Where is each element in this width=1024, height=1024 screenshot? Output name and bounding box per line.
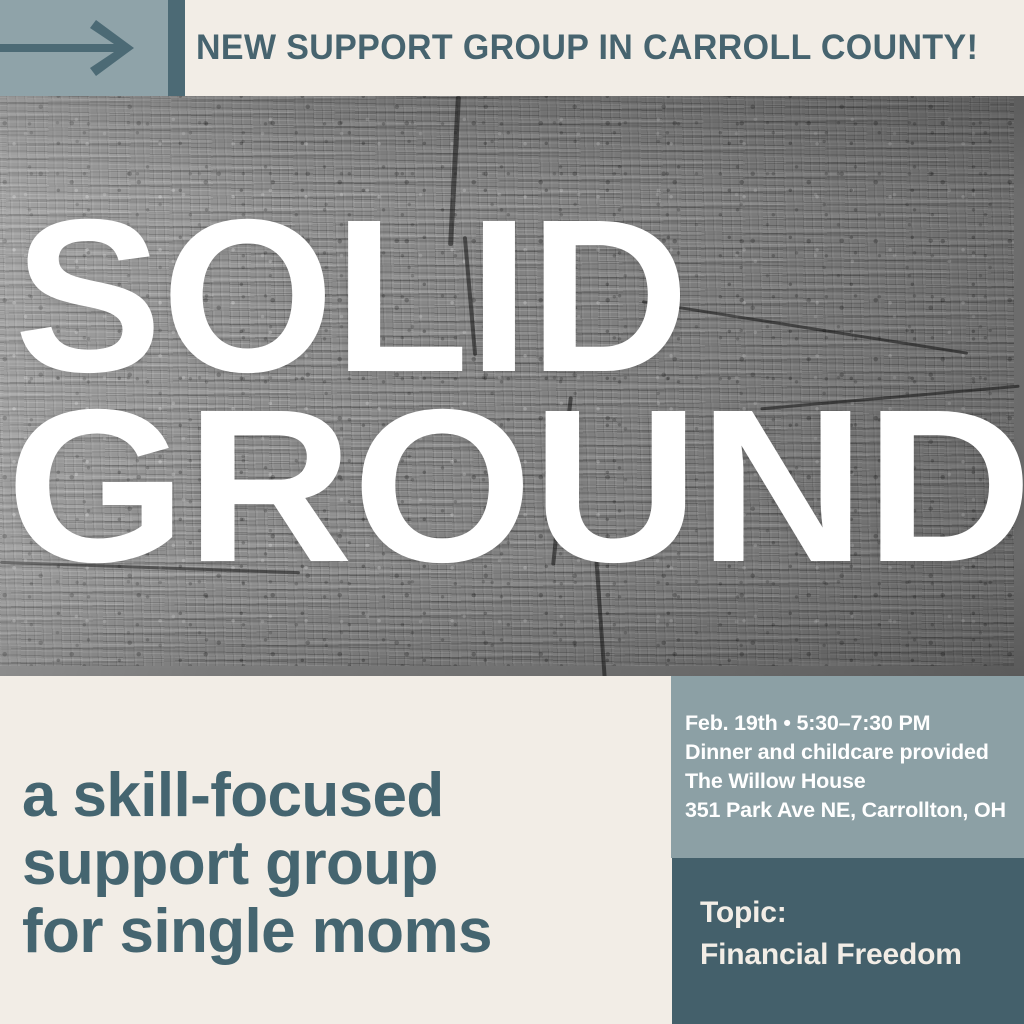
event-amenities: Dinner and childcare provided (685, 738, 1024, 767)
tagline-text: a skill-focused support group for single… (22, 762, 662, 966)
topic-list: Topic: Financial Freedom (700, 892, 962, 976)
event-details-list: Feb. 19th • 5:30–7:30 PM Dinner and chil… (685, 709, 1024, 825)
arrow-block (0, 0, 168, 96)
right-arrow-icon (0, 18, 168, 78)
header-divider (168, 0, 185, 96)
topic-value: Financial Freedom (700, 934, 962, 976)
tagline-line-2: support group (22, 830, 662, 898)
tagline-panel: a skill-focused support group for single… (0, 676, 671, 1024)
tagline-line-3: for single moms (22, 898, 662, 966)
header-title: NEW SUPPORT GROUP IN CARROLL COUNTY! (196, 0, 978, 96)
topic-panel: Topic: Financial Freedom (672, 858, 1024, 1024)
header-bar: NEW SUPPORT GROUP IN CARROLL COUNTY! (0, 0, 1024, 96)
event-datetime: Feb. 19th • 5:30–7:30 PM (685, 709, 1024, 738)
event-address: 351 Park Ave NE, Carrollton, OH (685, 796, 1024, 825)
tagline-line-1: a skill-focused (22, 762, 662, 830)
poster-canvas: NEW SUPPORT GROUP IN CARROLL COUNTY! SOL… (0, 0, 1024, 1024)
hero-shading-layer (0, 96, 1024, 676)
event-venue-name: The Willow House (685, 767, 1024, 796)
topic-label: Topic: (700, 892, 962, 934)
hero-photo (0, 96, 1024, 676)
event-details-panel: Feb. 19th • 5:30–7:30 PM Dinner and chil… (671, 676, 1024, 858)
